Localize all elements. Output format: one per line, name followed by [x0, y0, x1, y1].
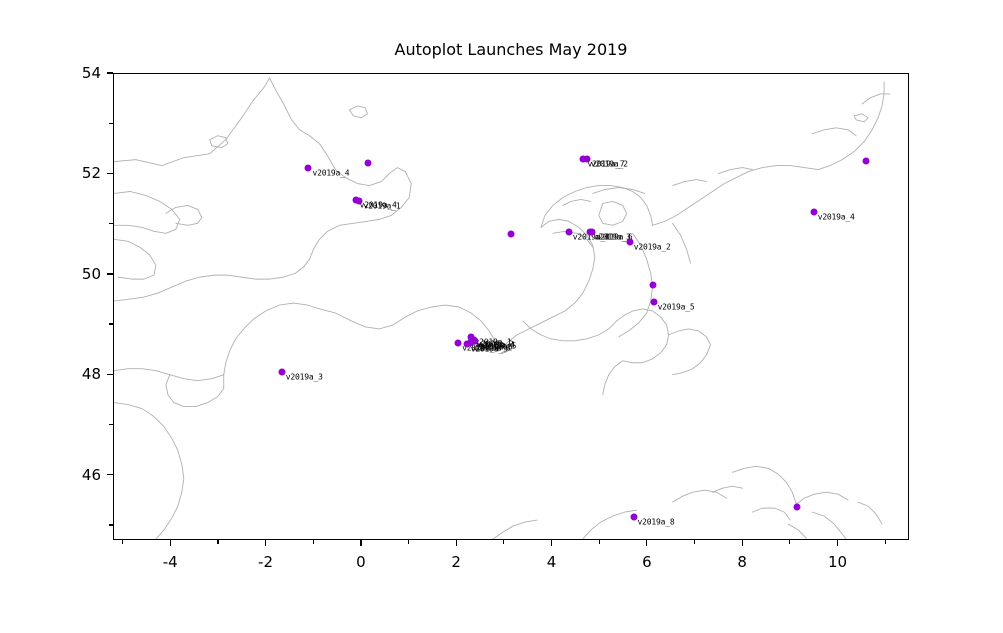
data-point-marker: [278, 368, 285, 375]
data-point-marker: [793, 503, 800, 510]
data-point-marker: [305, 164, 312, 171]
data-point-marker: [507, 230, 514, 237]
x-axis-tick-label: 10: [828, 553, 847, 571]
figure-canvas: Autoplot Launches May 2019: [0, 0, 1003, 633]
x-axis-minor-tick: [313, 540, 314, 544]
y-axis-tick-label: 54: [57, 64, 101, 82]
page-title: Autoplot Launches May 2019: [113, 40, 909, 59]
x-axis-tick-label: 0: [356, 553, 366, 571]
data-point-label: v2019a_2: [634, 243, 671, 252]
x-axis-minor-tick: [503, 540, 504, 544]
y-axis-tick-label: 48: [57, 365, 101, 383]
data-point-marker: [810, 209, 817, 216]
data-point-marker: [588, 229, 595, 236]
data-point-label: v2019a_8: [638, 517, 675, 526]
x-axis-minor-tick: [885, 540, 886, 544]
x-axis-minor-tick: [789, 540, 790, 544]
x-axis-minor-tick: [408, 540, 409, 544]
data-point-marker: [356, 198, 363, 205]
data-point-label: v2019a_4: [818, 213, 855, 222]
x-axis-minor-tick: [599, 540, 600, 544]
x-axis-tick: [837, 540, 838, 546]
x-axis-tick: [742, 540, 743, 546]
y-axis-tick: [107, 474, 113, 475]
y-axis-minor-tick: [109, 323, 113, 324]
data-point-marker: [463, 341, 470, 348]
data-points-layer: v2019a_4v2019a_4v2019a_1v2019a_7v2019a_2…: [114, 74, 908, 539]
x-axis-tick: [551, 540, 552, 546]
y-axis-minor-tick: [109, 123, 113, 124]
y-axis-tick-label: 52: [57, 164, 101, 182]
x-axis-tick-label: 6: [642, 553, 652, 571]
x-axis-tick: [646, 540, 647, 546]
data-point-label: v2019a_5: [658, 303, 695, 312]
x-axis-tick-label: 4: [547, 553, 557, 571]
data-point-marker: [630, 513, 637, 520]
x-axis-minor-tick: [694, 540, 695, 544]
x-axis-tick: [456, 540, 457, 546]
data-point-marker: [455, 339, 462, 346]
x-axis-minor-tick: [217, 540, 218, 544]
data-point-label: v2019a_9: [471, 345, 508, 354]
x-axis-minor-tick: [122, 540, 123, 544]
data-point-marker: [565, 229, 572, 236]
x-axis-tick: [265, 540, 266, 546]
data-point-marker: [583, 156, 590, 163]
x-axis-tick: [360, 540, 361, 546]
data-point-marker: [364, 160, 371, 167]
y-axis-tick-label: 50: [57, 265, 101, 283]
x-axis-tick-label: 8: [737, 553, 747, 571]
data-point-label: v2019a_3: [286, 372, 323, 381]
y-axis-tick: [107, 72, 113, 73]
y-axis-minor-tick: [109, 424, 113, 425]
y-axis-tick: [107, 273, 113, 274]
y-axis-minor-tick: [109, 223, 113, 224]
data-point-marker: [650, 299, 657, 306]
data-point-label: v2019a_2: [591, 160, 628, 169]
x-axis-tick-label: -2: [258, 553, 273, 571]
data-point-marker: [863, 157, 870, 164]
x-axis-tick: [170, 540, 171, 546]
y-axis-tick: [107, 173, 113, 174]
y-axis-minor-tick: [109, 524, 113, 525]
y-axis-tick-label: 46: [57, 466, 101, 484]
y-axis-tick: [107, 374, 113, 375]
x-axis-tick-label: -4: [163, 553, 178, 571]
data-point-label: v2019a_4: [312, 168, 349, 177]
data-point-marker: [649, 281, 656, 288]
plot-area: v2019a_4v2019a_4v2019a_1v2019a_7v2019a_2…: [113, 73, 909, 540]
x-axis-tick-label: 2: [451, 553, 461, 571]
data-point-label: v2019a_1: [363, 202, 400, 211]
data-point-marker: [626, 239, 633, 246]
